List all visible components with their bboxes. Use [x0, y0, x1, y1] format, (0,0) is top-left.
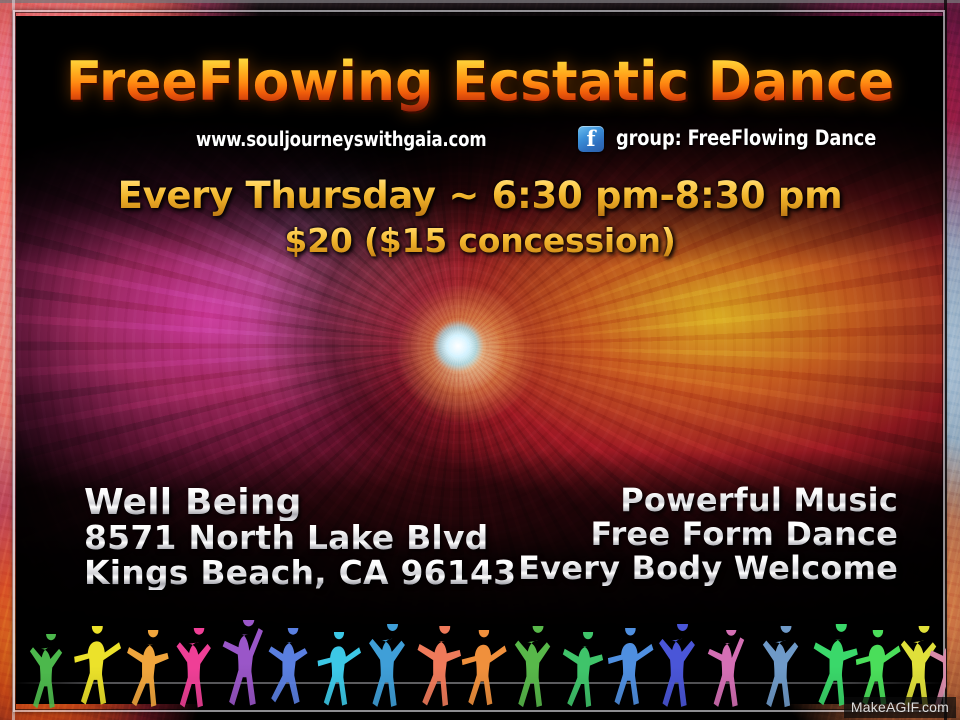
page-title: FreeFlowing Ecstatic Dance	[5, 50, 955, 113]
promise-line-3: Every Body Welcome	[0, 552, 898, 586]
facebook-group-label[interactable]: group: FreeFlowing Dance	[616, 126, 876, 150]
promise-block: Powerful Music Free Form Dance Every Bod…	[0, 484, 898, 586]
frame-top-rule	[0, 0, 960, 3]
dancer-silhouette-strip	[14, 608, 946, 720]
website-url[interactable]: www.souljourneyswithgaia.com	[196, 127, 486, 151]
poster-canvas: FreeFlowing Ecstatic Dance www.souljourn…	[0, 0, 960, 720]
promise-line-1: Powerful Music	[0, 484, 898, 518]
facebook-icon[interactable]: f	[578, 126, 604, 152]
watermark-label: MakeAGIF.com	[844, 697, 956, 718]
promise-line-2: Free Form Dance	[0, 518, 898, 552]
price-line: $20 ($15 concession)	[0, 221, 960, 260]
schedule-line: Every Thursday ~ 6:30 pm-8:30 pm	[0, 174, 960, 217]
